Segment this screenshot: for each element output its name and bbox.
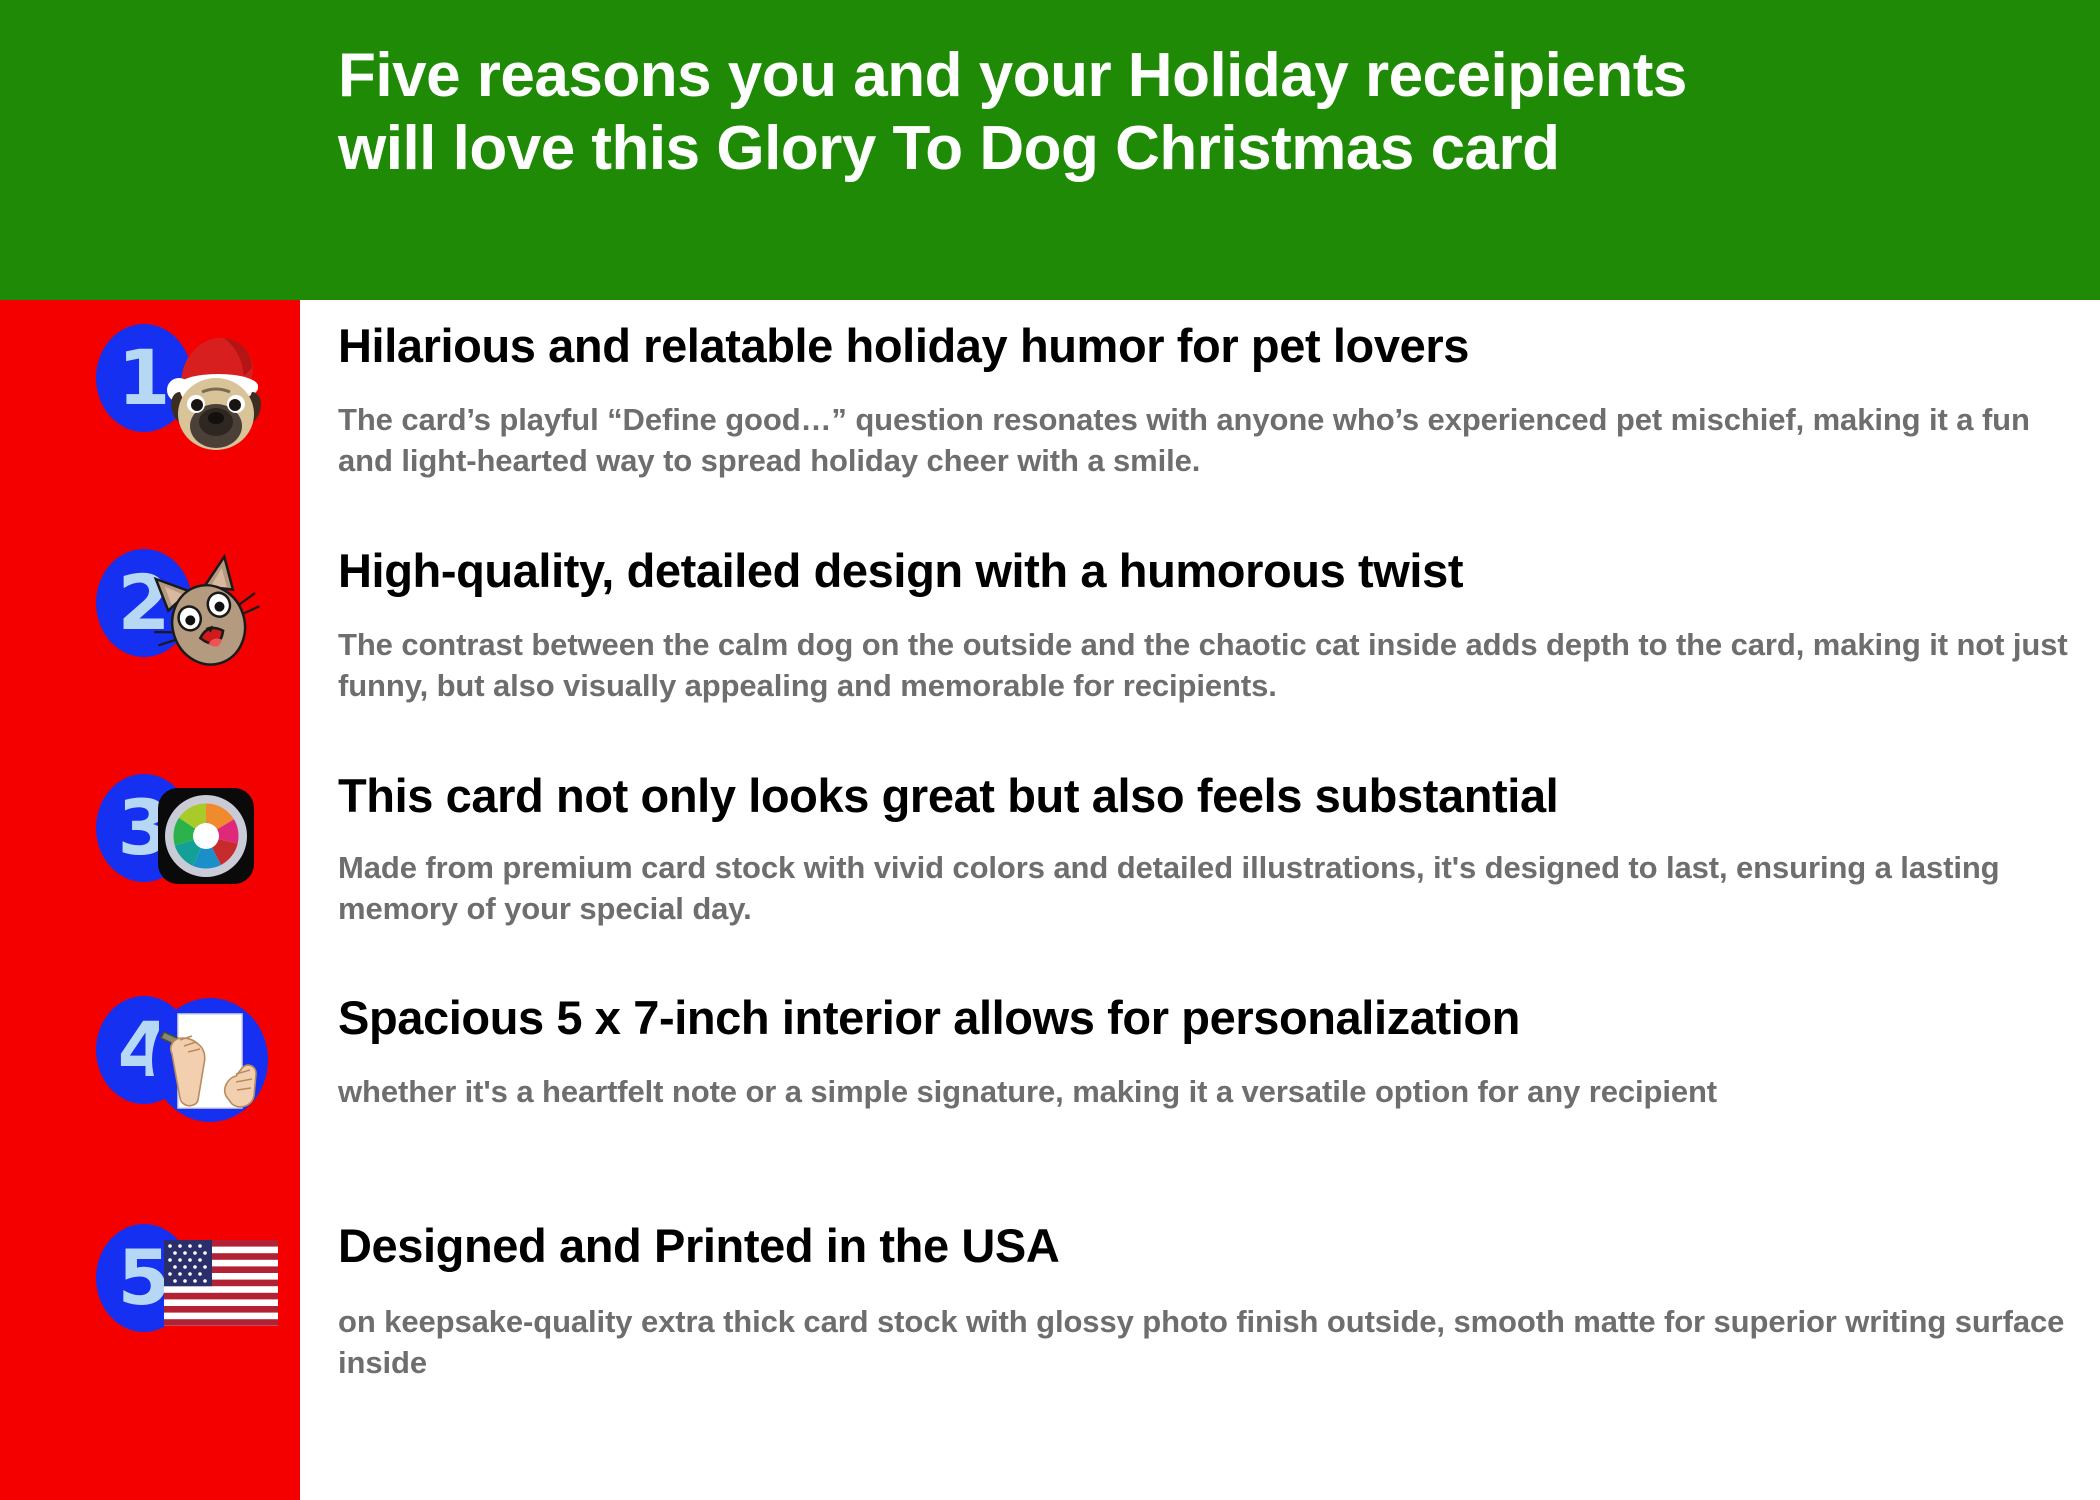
- badge-cluster: 1: [96, 320, 296, 480]
- page-title: Five reasons you and your Holiday receip…: [338, 40, 2038, 185]
- content-area: 1: [0, 300, 2100, 1500]
- reason-heading: Spacious 5 x 7-inch interior allows for …: [338, 992, 2078, 1044]
- reason-text-block: Designed and Printed in the USA on keeps…: [338, 1220, 2078, 1384]
- reason-heading: Designed and Printed in the USA: [338, 1220, 2078, 1272]
- reason-text-block: Hilarious and relatable holiday humor fo…: [338, 320, 2078, 482]
- reasons-list: 1: [0, 300, 2100, 1500]
- badge-cluster: 3: [96, 770, 296, 930]
- reason-heading: High-quality, detailed design with a hum…: [338, 545, 2078, 597]
- usa-flag-icon: [164, 1240, 278, 1326]
- badge-cluster: 4: [96, 992, 296, 1152]
- cat-face-icon: [148, 551, 264, 681]
- reason-body: The contrast between the calm dog on the…: [338, 625, 2078, 707]
- hand-writing-icon: [144, 992, 270, 1128]
- camera-aperture-icon: [154, 784, 258, 888]
- reason-heading: This card not only looks great but also …: [338, 770, 2078, 822]
- badge-cluster: 2: [96, 545, 296, 705]
- reason-text-block: High-quality, detailed design with a hum…: [338, 545, 2078, 707]
- badge-cluster: 5: [96, 1220, 296, 1380]
- header-banner: Five reasons you and your Holiday receip…: [0, 0, 2100, 300]
- reason-body: Made from premium card stock with vivid …: [338, 848, 2078, 930]
- reason-text-block: This card not only looks great but also …: [338, 770, 2078, 930]
- reason-text-block: Spacious 5 x 7-inch interior allows for …: [338, 992, 2078, 1113]
- reason-body: on keepsake-quality extra thick card sto…: [338, 1302, 2078, 1384]
- santa-dog-icon: [148, 326, 264, 456]
- reason-body: The card’s playful “Define good…” questi…: [338, 400, 2078, 482]
- reason-heading: Hilarious and relatable holiday humor fo…: [338, 320, 2078, 372]
- reason-body: whether it's a heartfelt note or a simpl…: [338, 1072, 2078, 1113]
